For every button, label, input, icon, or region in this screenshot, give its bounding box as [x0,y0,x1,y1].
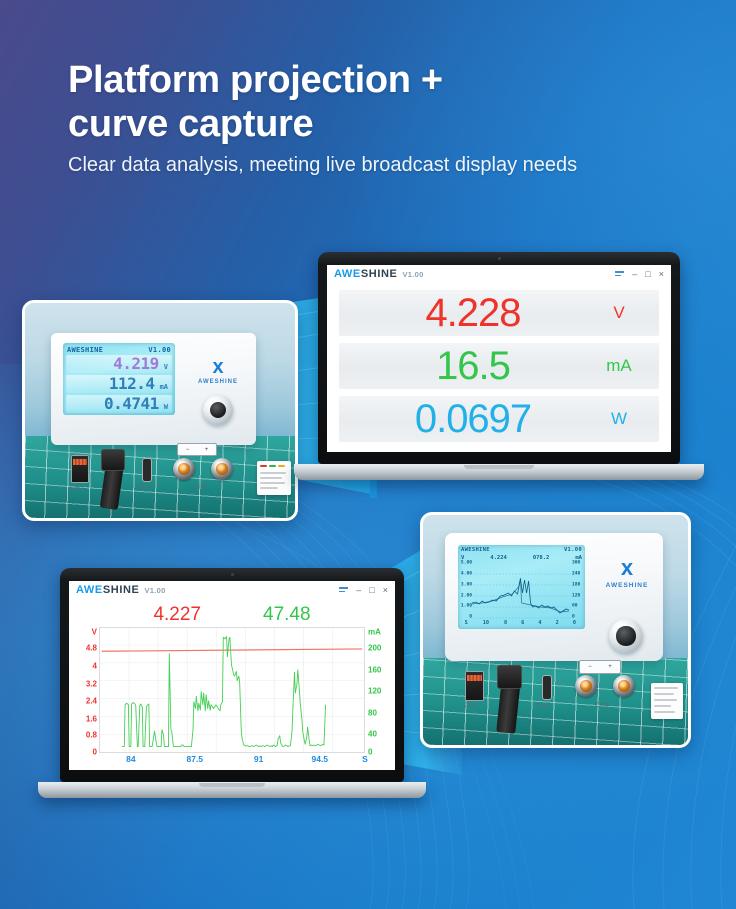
chart-app-logo-suffix: SHINE [103,584,140,596]
device-2-lcd-screen: AWESHINE V1.00 V 4.224 078.2 mA 5.00 4.0… [458,545,585,629]
usb-cable-connector [101,449,125,471]
app-version: V1.00 [402,270,423,279]
port-label-ch1: CH1 [70,484,84,491]
device-lcd-screen: AWESHINE V1.00 4.219 V 112.4 mA 0.4741 W [63,343,175,415]
d2-y2-60: 60 [572,604,578,609]
y2-tick-80: 80 [368,708,377,717]
app-logo: AWESHINE [334,269,397,280]
device-rotary-knob[interactable] [203,395,233,425]
laptop-base-chart [38,782,427,798]
y-tick-4: 4 [93,662,97,671]
readout-power-unit: W [593,409,645,429]
device-2-brand-name: AWESHINE [599,582,655,589]
port-2-label-ch4: CH4 [595,702,609,709]
d2-x-10: 10 [483,620,489,626]
readout-power-value: 0.0697 [353,399,593,439]
maximize-icon[interactable]: □ [645,270,650,279]
page-subtitle: Clear data analysis, meeting live broadc… [68,152,708,178]
x-axis-label: S [362,754,368,764]
app-logo-suffix: SHINE [361,268,398,280]
app-titlebar: AWESHINE V1.00 – □ × [327,265,671,284]
y-tick-1-6: 1.6 [86,714,97,723]
d2-y2-240: 240 [572,571,580,576]
y-tick-2-4: 2.4 [86,697,97,706]
device-2-y-axis-right: 300 240 180 120 60 0 [571,562,585,619]
readout-row-current: 16.5 mA [339,343,659,389]
close-icon[interactable]: × [659,270,664,279]
device-2-x-axis: S 10 8 6 4 2 0 [460,620,583,629]
port-label-ch4: CH4 [193,484,207,491]
usb-cable-connector-2 [497,665,522,689]
device-reading-voltage: 4.219 V [66,355,172,373]
d2-y2-300: 300 [572,561,580,566]
polarity-indicator-2: − + [579,660,621,674]
laptop-lid-chart: AWESHINE V1.00 – □ × 4.227 47.48 [60,568,404,782]
product-photo-top-left: AWESHINE V1.00 4.219 V 112.4 mA 0.4741 W [22,300,298,521]
chart-canvas [99,627,365,753]
chart-x-axis: 84 87.5 91 94.5 S [99,753,365,767]
x-tick-87-5: 87.5 [186,754,203,764]
d2-x-0: 0 [573,620,576,626]
product-sticker-2 [651,683,683,719]
minimize-icon[interactable]: – [632,270,637,279]
device-lcd-version: V1.00 [148,346,171,354]
d2-y2-120: 120 [572,593,580,598]
device-brand-logo: x AWESHINE [191,357,245,385]
readout-current-value: 16.5 [353,346,593,386]
chart-live-values: 4.227 47.48 [73,602,391,627]
poster-stage: Platform projection + curve capture Clea… [0,0,736,909]
app-logo-prefix: AWE [334,268,361,280]
headline-line-2: curve capture [68,102,688,146]
readout-row-power: 0.0697 W [339,396,659,442]
page-title: Platform projection + curve capture [68,58,688,147]
minimize-icon[interactable]: – [356,586,361,595]
port-2-usb-c-ch3[interactable] [542,675,552,700]
readout-row-voltage: 4.228 V [339,290,659,336]
binding-post-2-positive[interactable] [613,675,635,697]
chart-app-version: V1.00 [144,586,165,595]
device-2-voltage-value: 4.224 [490,555,507,561]
power-analyzer-device-2: AWESHINE V1.00 V 4.224 078.2 mA 5.00 4.0… [445,533,663,661]
port-2-label-ch1: CH1 [464,702,478,709]
device-2-lcd-brand: AWESHINE [461,547,490,553]
binding-post-positive[interactable] [211,458,233,480]
polarity-plus: + [205,447,209,453]
power-analyzer-device: AWESHINE V1.00 4.219 V 112.4 mA 0.4741 W [51,333,256,445]
port-usb-a-ch1[interactable] [71,455,89,483]
laptop-screen: AWESHINE V1.00 – □ × 4.228 V [327,265,671,452]
product-sticker [257,461,291,495]
device-2-current-value: 078.2 [533,555,550,561]
y2-tick-40: 40 [368,730,377,739]
y-tick-0-8: 0.8 [86,731,97,740]
list-icon[interactable] [615,271,624,278]
port-2-label-ch3: CH3 [536,702,550,709]
x-tick-94-5: 94.5 [311,754,328,764]
device-reading-power: 0.4741 W [66,395,172,413]
laptop-screen-chart: AWESHINE V1.00 – □ × 4.227 47.48 [69,581,395,770]
polarity-minus: − [186,447,190,453]
readout-voltage-value: 4.228 [353,293,593,333]
window-controls: – □ × [615,270,664,279]
y-tick-4-8: 4.8 [86,644,97,653]
chart-plot-area: V 4.8 4 3.2 2.4 1.6 0.8 0 [73,627,391,753]
bench-mat-2 [423,658,688,745]
y2-tick-160: 160 [368,665,381,674]
y2-tick-200: 200 [368,644,381,653]
device-2-lcd-version: V1.00 [564,547,582,553]
y2-tick-120: 120 [368,687,381,696]
y-tick-0: 0 [93,747,97,756]
device-2-brand-logo: x AWESHINE [599,557,655,589]
readout-current-unit: mA [593,356,645,376]
close-icon[interactable]: × [383,586,388,595]
polarity-indicator: − + [177,443,217,456]
aweshine-chart-app: AWESHINE V1.00 – □ × 4.227 47.48 [69,581,395,770]
device-current-unit: mA [160,383,168,391]
chart-live-current: 47.48 [263,605,311,624]
device-voltage-unit: V [164,363,168,371]
chart-y-axis-voltage: V 4.8 4 3.2 2.4 1.6 0.8 0 [73,627,99,753]
chart-live-voltage: 4.227 [153,605,201,624]
laptop-base [294,464,703,480]
laptop-readout: AWESHINE V1.00 – □ × 4.228 V [318,252,680,484]
d2-x-8: 8 [504,620,507,626]
device-lcd-brand: AWESHINE [67,346,103,354]
device-reading-current: 112.4 mA [66,375,172,393]
y2-axis-label: mA [368,628,381,637]
chart-container: 4.227 47.48 V 4.8 4 3.2 2.4 1.6 [69,600,395,770]
d2-x-2: 2 [556,620,559,626]
readout-voltage-unit: V [593,303,645,323]
port-label-ch3: CH3 [137,484,151,491]
x-tick-91: 91 [254,754,263,764]
binding-post-negative[interactable] [173,458,195,480]
binding-post-2-negative[interactable] [575,675,597,697]
polarity-2-minus: − [588,664,592,670]
d2-x-6: 6 [521,620,524,626]
chart-app-logo-prefix: AWE [76,584,103,596]
y-axis-label: V [92,628,97,637]
maximize-icon[interactable]: □ [369,586,374,595]
d2-x-4: 4 [538,620,541,626]
aweshine-mark-icon: x [599,557,655,579]
port-usb-c-ch3[interactable] [142,458,152,482]
device-2-rotary-knob[interactable] [609,619,643,653]
d2-y2-180: 180 [572,582,580,587]
y2-tick-0: 0 [368,747,372,756]
polarity-2-plus: + [608,664,612,670]
device-voltage-value: 4.219 [113,356,159,372]
readout-panel: 4.228 V 16.5 mA 0.0697 W [327,284,671,452]
list-icon[interactable] [339,587,348,594]
product-photo-bottom-right: AWESHINE V1.00 V 4.224 078.2 mA 5.00 4.0… [420,512,691,748]
chart-app-logo: AWESHINE [76,585,139,596]
device-brand-name: AWESHINE [191,379,245,385]
chart-app-titlebar: AWESHINE V1.00 – □ × [69,581,395,600]
aweshine-readout-app: AWESHINE V1.00 – □ × 4.228 V [327,265,671,452]
y-tick-3-2: 3.2 [86,679,97,688]
device-power-unit: W [164,403,168,411]
headline-line-1: Platform projection + [68,58,688,102]
chart-y-axis-current: mA 200 160 120 80 40 0 [365,627,391,753]
device-2-plot [470,563,571,619]
laptop-lid: AWESHINE V1.00 – □ × 4.228 V [318,252,680,464]
laptop-chart: AWESHINE V1.00 – □ × 4.227 47.48 [60,568,404,802]
device-power-value: 0.4741 [104,396,159,412]
aweshine-mark-icon: x [191,357,245,377]
bench-mat [25,436,295,518]
x-tick-84: 84 [126,754,135,764]
device-current-value: 112.4 [109,376,155,392]
d2-x-s: S [465,620,468,626]
port-2-usb-a-ch1[interactable] [465,671,484,701]
chart-window-controls: – □ × [339,586,388,595]
